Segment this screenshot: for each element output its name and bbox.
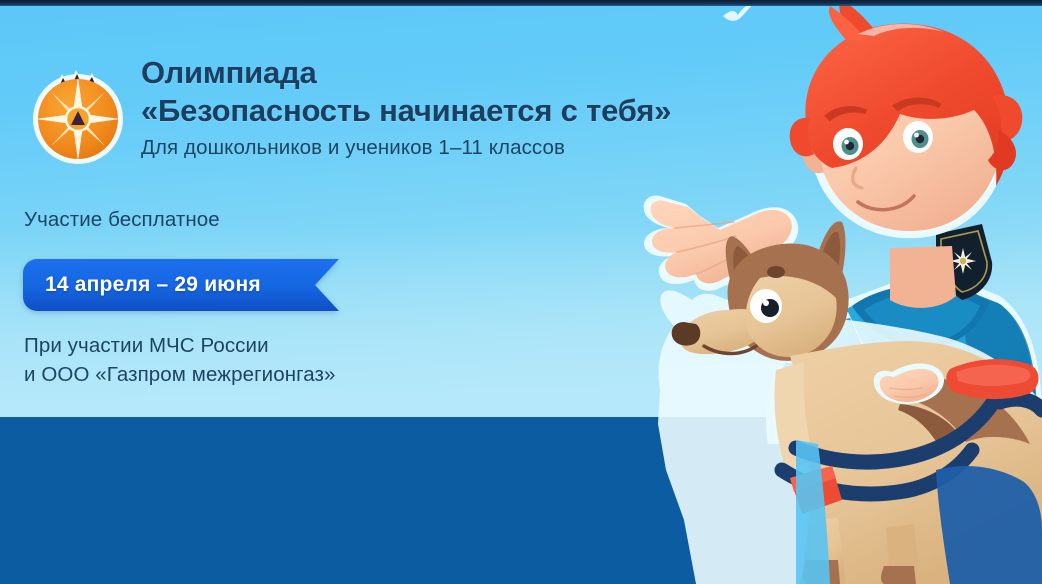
date-badge-label: 14 апреля – 29 июня: [23, 259, 319, 311]
free-participation-text: Участие бесплатное: [24, 208, 220, 232]
audience-subtitle: Для дошкольников и учеников 1–11 классов: [141, 135, 801, 162]
emercom-logo: [26, 57, 134, 169]
lower-blue-panel: [0, 417, 797, 584]
headline-block: Олимпиада «Безопасность начинается с теб…: [141, 56, 801, 162]
partners-line-2: и ООО «Газпром межрегионгаз»: [24, 360, 336, 389]
partners-text: При участии МЧС России и ООО «Газпром ме…: [24, 331, 336, 389]
title-line-2: «Безопасность начинается с тебя»: [141, 93, 801, 128]
promo-banner-screenshot: Олимпиада «Безопасность начинается с теб…: [0, 0, 1042, 584]
title-line-1: Олимпиада: [141, 56, 801, 91]
partners-line-1: При участии МЧС России: [24, 331, 336, 360]
date-badge: 14 апреля – 29 июня: [23, 259, 339, 311]
top-edge-rule: [0, 0, 1042, 6]
